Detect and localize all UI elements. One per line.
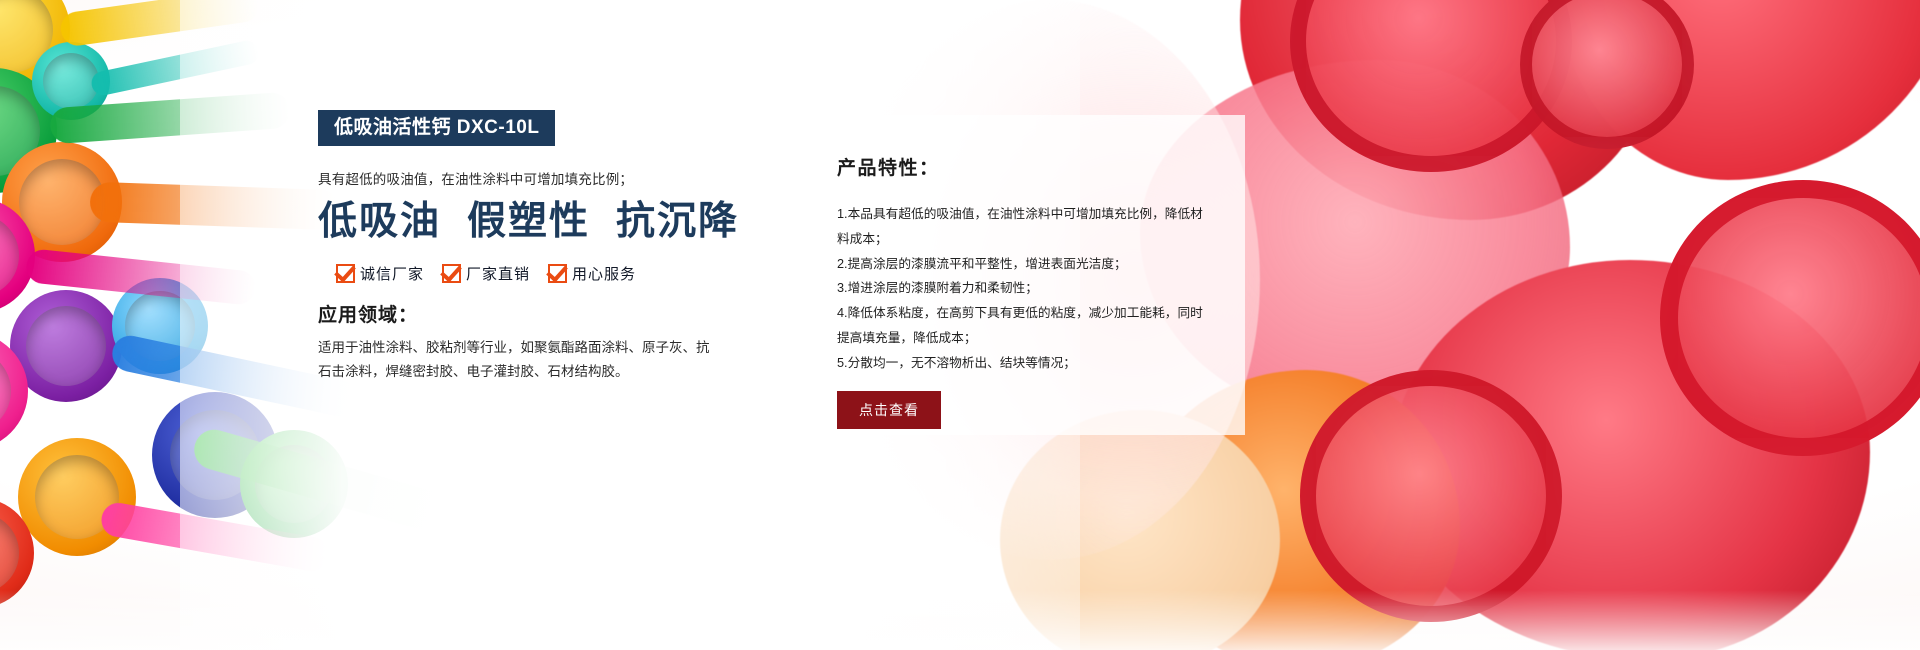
trust-feature-label-2: 厂家直销 xyxy=(466,263,530,284)
bottom-fade xyxy=(0,590,1920,650)
paint-rim-bottom xyxy=(1300,370,1562,622)
headline-word-3: 抗沉降 xyxy=(616,198,739,244)
product-feature-item: 4.降低体系粘度，在高剪下具有更低的粘度，减少加工能耗，同时提高填充量，降低成本… xyxy=(837,301,1215,351)
left-content-block: 低吸油活性钙 DXC-10L 具有超低的吸油值，在油性涂料中可增加填充比例； 低… xyxy=(318,110,738,383)
headline-word-1: 低吸油 xyxy=(318,198,441,244)
trust-feature-row: 诚信厂家 厂家直销 用心服务 xyxy=(318,263,738,284)
view-details-button[interactable]: 点击查看 xyxy=(837,391,941,429)
product-features-panel: 产品特性： 1.本品具有超低的吸油值，在油性涂料中可增加填充比例，降低材料成本；… xyxy=(805,115,1245,435)
product-features-panel-inner: 产品特性： 1.本品具有超低的吸油值，在油性涂料中可增加填充比例，降低材料成本；… xyxy=(805,115,1245,429)
checkbox-checked-icon xyxy=(442,264,461,283)
product-feature-item: 2.提高涂层的漆膜流平和平整性，增进表面光洁度； xyxy=(837,252,1215,277)
product-features-list: 1.本品具有超低的吸油值，在油性涂料中可增加填充比例，降低材料成本； 2.提高涂… xyxy=(837,202,1215,375)
headline-keywords: 低吸油假塑性抗沉降 xyxy=(318,202,738,241)
product-feature-item: 5.分散均一，无不溶物析出、结块等情况； xyxy=(837,351,1215,376)
trust-feature-label-1: 诚信厂家 xyxy=(360,263,424,284)
trust-feature-label-3: 用心服务 xyxy=(572,263,636,284)
trust-feature-2: 厂家直销 xyxy=(442,263,530,284)
application-section-body: 适用于油性涂料、胶粘剂等行业，如聚氨酯路面涂料、原子灰、抗石击涂料，焊缝密封胶、… xyxy=(318,336,718,383)
product-subtitle: 具有超低的吸油值，在油性涂料中可增加填充比例； xyxy=(318,168,738,188)
trust-feature-1: 诚信厂家 xyxy=(336,263,424,284)
checkbox-checked-icon xyxy=(548,264,567,283)
product-feature-item: 3.增进涂层的漆膜附着力和柔韧性； xyxy=(837,276,1215,301)
application-section-title: 应用领域： xyxy=(318,300,738,327)
product-feature-item: 1.本品具有超低的吸油值，在油性涂料中可增加填充比例，降低材料成本； xyxy=(837,202,1215,252)
paint-can-orange2 xyxy=(18,438,136,556)
checkbox-checked-icon xyxy=(336,264,355,283)
product-features-title: 产品特性： xyxy=(837,153,1215,180)
banner-stage: 低吸油活性钙 DXC-10L 具有超低的吸油值，在油性涂料中可增加填充比例； 低… xyxy=(0,0,1920,650)
headline-word-2: 假塑性 xyxy=(467,198,590,244)
product-title-badge: 低吸油活性钙 DXC-10L xyxy=(318,110,555,146)
trust-feature-3: 用心服务 xyxy=(548,263,636,284)
